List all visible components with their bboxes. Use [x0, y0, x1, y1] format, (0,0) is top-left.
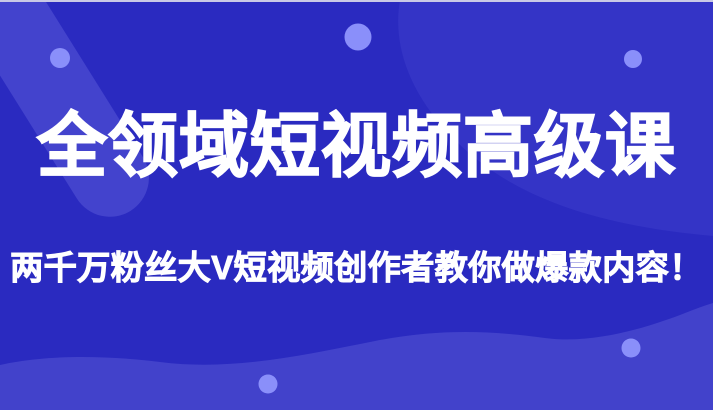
page-subtitle: 两千万粉丝大V短视频创作者教你做爆款内容！ — [0, 248, 713, 288]
banner-text-layer: 全领域短视频高级课 两千万粉丝大V短视频创作者教你做爆款内容！ — [0, 0, 713, 410]
course-promo-banner: 全领域短视频高级课 两千万粉丝大V短视频创作者教你做爆款内容！ — [0, 0, 713, 410]
top-edge-hairline — [0, 0, 713, 2]
page-title: 全领域短视频高级课 — [0, 108, 713, 184]
